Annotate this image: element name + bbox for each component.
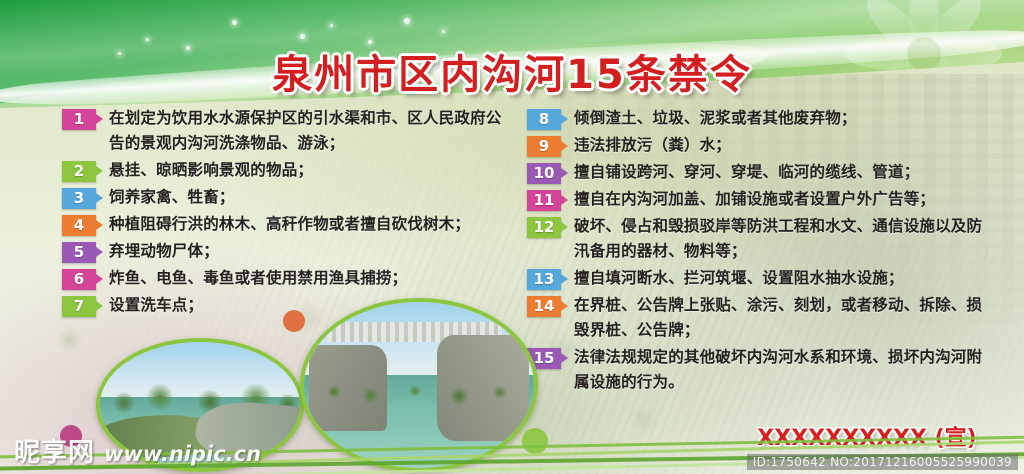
rule-text: 炸鱼、电鱼、毒鱼或者使用禁用渔具捕捞； <box>109 266 514 291</box>
rule-item: 9违法排放污（粪）水； <box>527 133 997 158</box>
rule-number-badge: 1 <box>62 109 96 130</box>
rule-number: 3 <box>74 189 84 207</box>
rule-number-badge: 3 <box>62 188 96 209</box>
rule-number: 9 <box>539 137 549 155</box>
rule-item: 1在划定为饮用水水源保护区的引水渠和市、区人民政府公告的景观内沟河洗涤物品、游泳… <box>62 106 514 156</box>
rule-text: 弃埋动物尸体； <box>109 239 514 264</box>
rule-text: 违法排放污（粪）水； <box>574 133 997 158</box>
rule-item: 11擅自在内沟河加盖、加铺设施或者设置户外广告等； <box>527 187 997 212</box>
page-title: 泉州市区内沟河15条禁令 <box>0 42 1024 100</box>
nipic-watermark: 昵享网 www.nipic.cn <box>14 432 261 469</box>
rule-number: 4 <box>74 216 84 234</box>
rule-number: 8 <box>539 110 549 128</box>
nipic-url-text: www.nipic.cn <box>104 442 261 466</box>
rule-number: 11 <box>534 191 555 209</box>
rule-item: 2悬挂、晾晒影响景观的物品； <box>62 158 514 183</box>
rule-text: 种植阻碍行洪的林木、高秆作物或者擅自砍伐树木； <box>109 212 514 237</box>
rule-text: 倾倒渣土、垃圾、泥浆或者其他废弃物； <box>574 106 997 131</box>
rule-item: 3饲养家禽、牲畜； <box>62 185 514 210</box>
decorative-dot-orange <box>283 310 305 332</box>
rule-text: 在界桩、公告牌上张贴、涂污、刻划，或者移动、拆除、损毁界桩、公告牌； <box>574 293 997 343</box>
rule-text: 破坏、侵占和毁损驳岸等防洪工程和水文、通信设施以及防汛备用的器材、物料等； <box>574 214 997 264</box>
rule-text: 悬挂、晾晒影响景观的物品； <box>109 158 514 183</box>
rule-text: 擅自铺设跨河、穿河、穿堤、临河的缆线、管道； <box>574 160 997 185</box>
rule-item: 5弃埋动物尸体； <box>62 239 514 264</box>
rules-column-right: 8倾倒渣土、垃圾、泥浆或者其他废弃物；9违法排放污（粪）水；10擅自铺设跨河、穿… <box>527 106 997 397</box>
rule-number-badge: 10 <box>527 163 561 184</box>
rule-number: 1 <box>74 110 84 128</box>
rule-number-badge: 12 <box>527 217 561 238</box>
rule-number-badge: 11 <box>527 190 561 211</box>
rule-number: 14 <box>534 297 555 315</box>
rule-item: 8倾倒渣土、垃圾、泥浆或者其他废弃物； <box>527 106 997 131</box>
rule-number: 15 <box>534 349 555 367</box>
rule-number: 10 <box>534 164 555 182</box>
rule-number: 6 <box>74 270 84 288</box>
rule-number: 13 <box>534 270 555 288</box>
rule-number-badge: 4 <box>62 215 96 236</box>
rule-number-badge: 8 <box>527 109 561 130</box>
rule-number-badge: 13 <box>527 269 561 290</box>
rule-item: 6炸鱼、电鱼、毒鱼或者使用禁用渔具捕捞； <box>62 266 514 291</box>
rule-text: 擅自填河断水、拦河筑堰、设置阻水抽水设施； <box>574 266 997 291</box>
nipic-logo-text: 昵享网 <box>14 432 95 469</box>
rule-number-badge: 7 <box>62 296 96 317</box>
rule-number: 12 <box>534 218 555 236</box>
rule-item: 10擅自铺设跨河、穿河、穿堤、临河的缆线、管道； <box>527 160 997 185</box>
rule-number: 2 <box>74 162 84 180</box>
poster-canvas: 泉州市区内沟河15条禁令 1在划定为饮用水水源保护区的引水渠和市、区人民政府公告… <box>0 0 1024 474</box>
rule-number-badge: 9 <box>527 136 561 157</box>
rule-item: 14在界桩、公告牌上张贴、涂污、刻划，或者移动、拆除、损毁界桩、公告牌； <box>527 293 997 343</box>
rule-item: 4种植阻碍行洪的林木、高秆作物或者擅自砍伐树木； <box>62 212 514 237</box>
rules-column-left: 1在划定为饮用水水源保护区的引水渠和市、区人民政府公告的景观内沟河洗涤物品、游泳… <box>62 106 514 320</box>
rule-item: 12破坏、侵占和毁损驳岸等防洪工程和水文、通信设施以及防汛备用的器材、物料等； <box>527 214 997 264</box>
rule-number-badge: 2 <box>62 161 96 182</box>
rule-item: 13擅自填河断水、拦河筑堰、设置阻水抽水设施； <box>527 266 997 291</box>
rule-number-badge: 6 <box>62 269 96 290</box>
rule-number: 7 <box>74 297 84 315</box>
image-id-watermark: ID:1750642 NO:20171216005525990039 <box>747 454 1018 470</box>
rule-text: 法律法规规定的其他破坏内沟河水系和环境、损坏内沟河附属设施的行为。 <box>574 345 997 395</box>
rule-text: 饲养家禽、牲畜； <box>109 185 514 210</box>
rule-text: 擅自在内沟河加盖、加铺设施或者设置户外广告等； <box>574 187 997 212</box>
rule-number: 5 <box>74 243 84 261</box>
rule-number-badge: 5 <box>62 242 96 263</box>
rule-text: 在划定为饮用水水源保护区的引水渠和市、区人民政府公告的景观内沟河洗涤物品、游泳； <box>109 106 514 156</box>
rule-item: 15法律法规规定的其他破坏内沟河水系和环境、损坏内沟河附属设施的行为。 <box>527 345 997 395</box>
